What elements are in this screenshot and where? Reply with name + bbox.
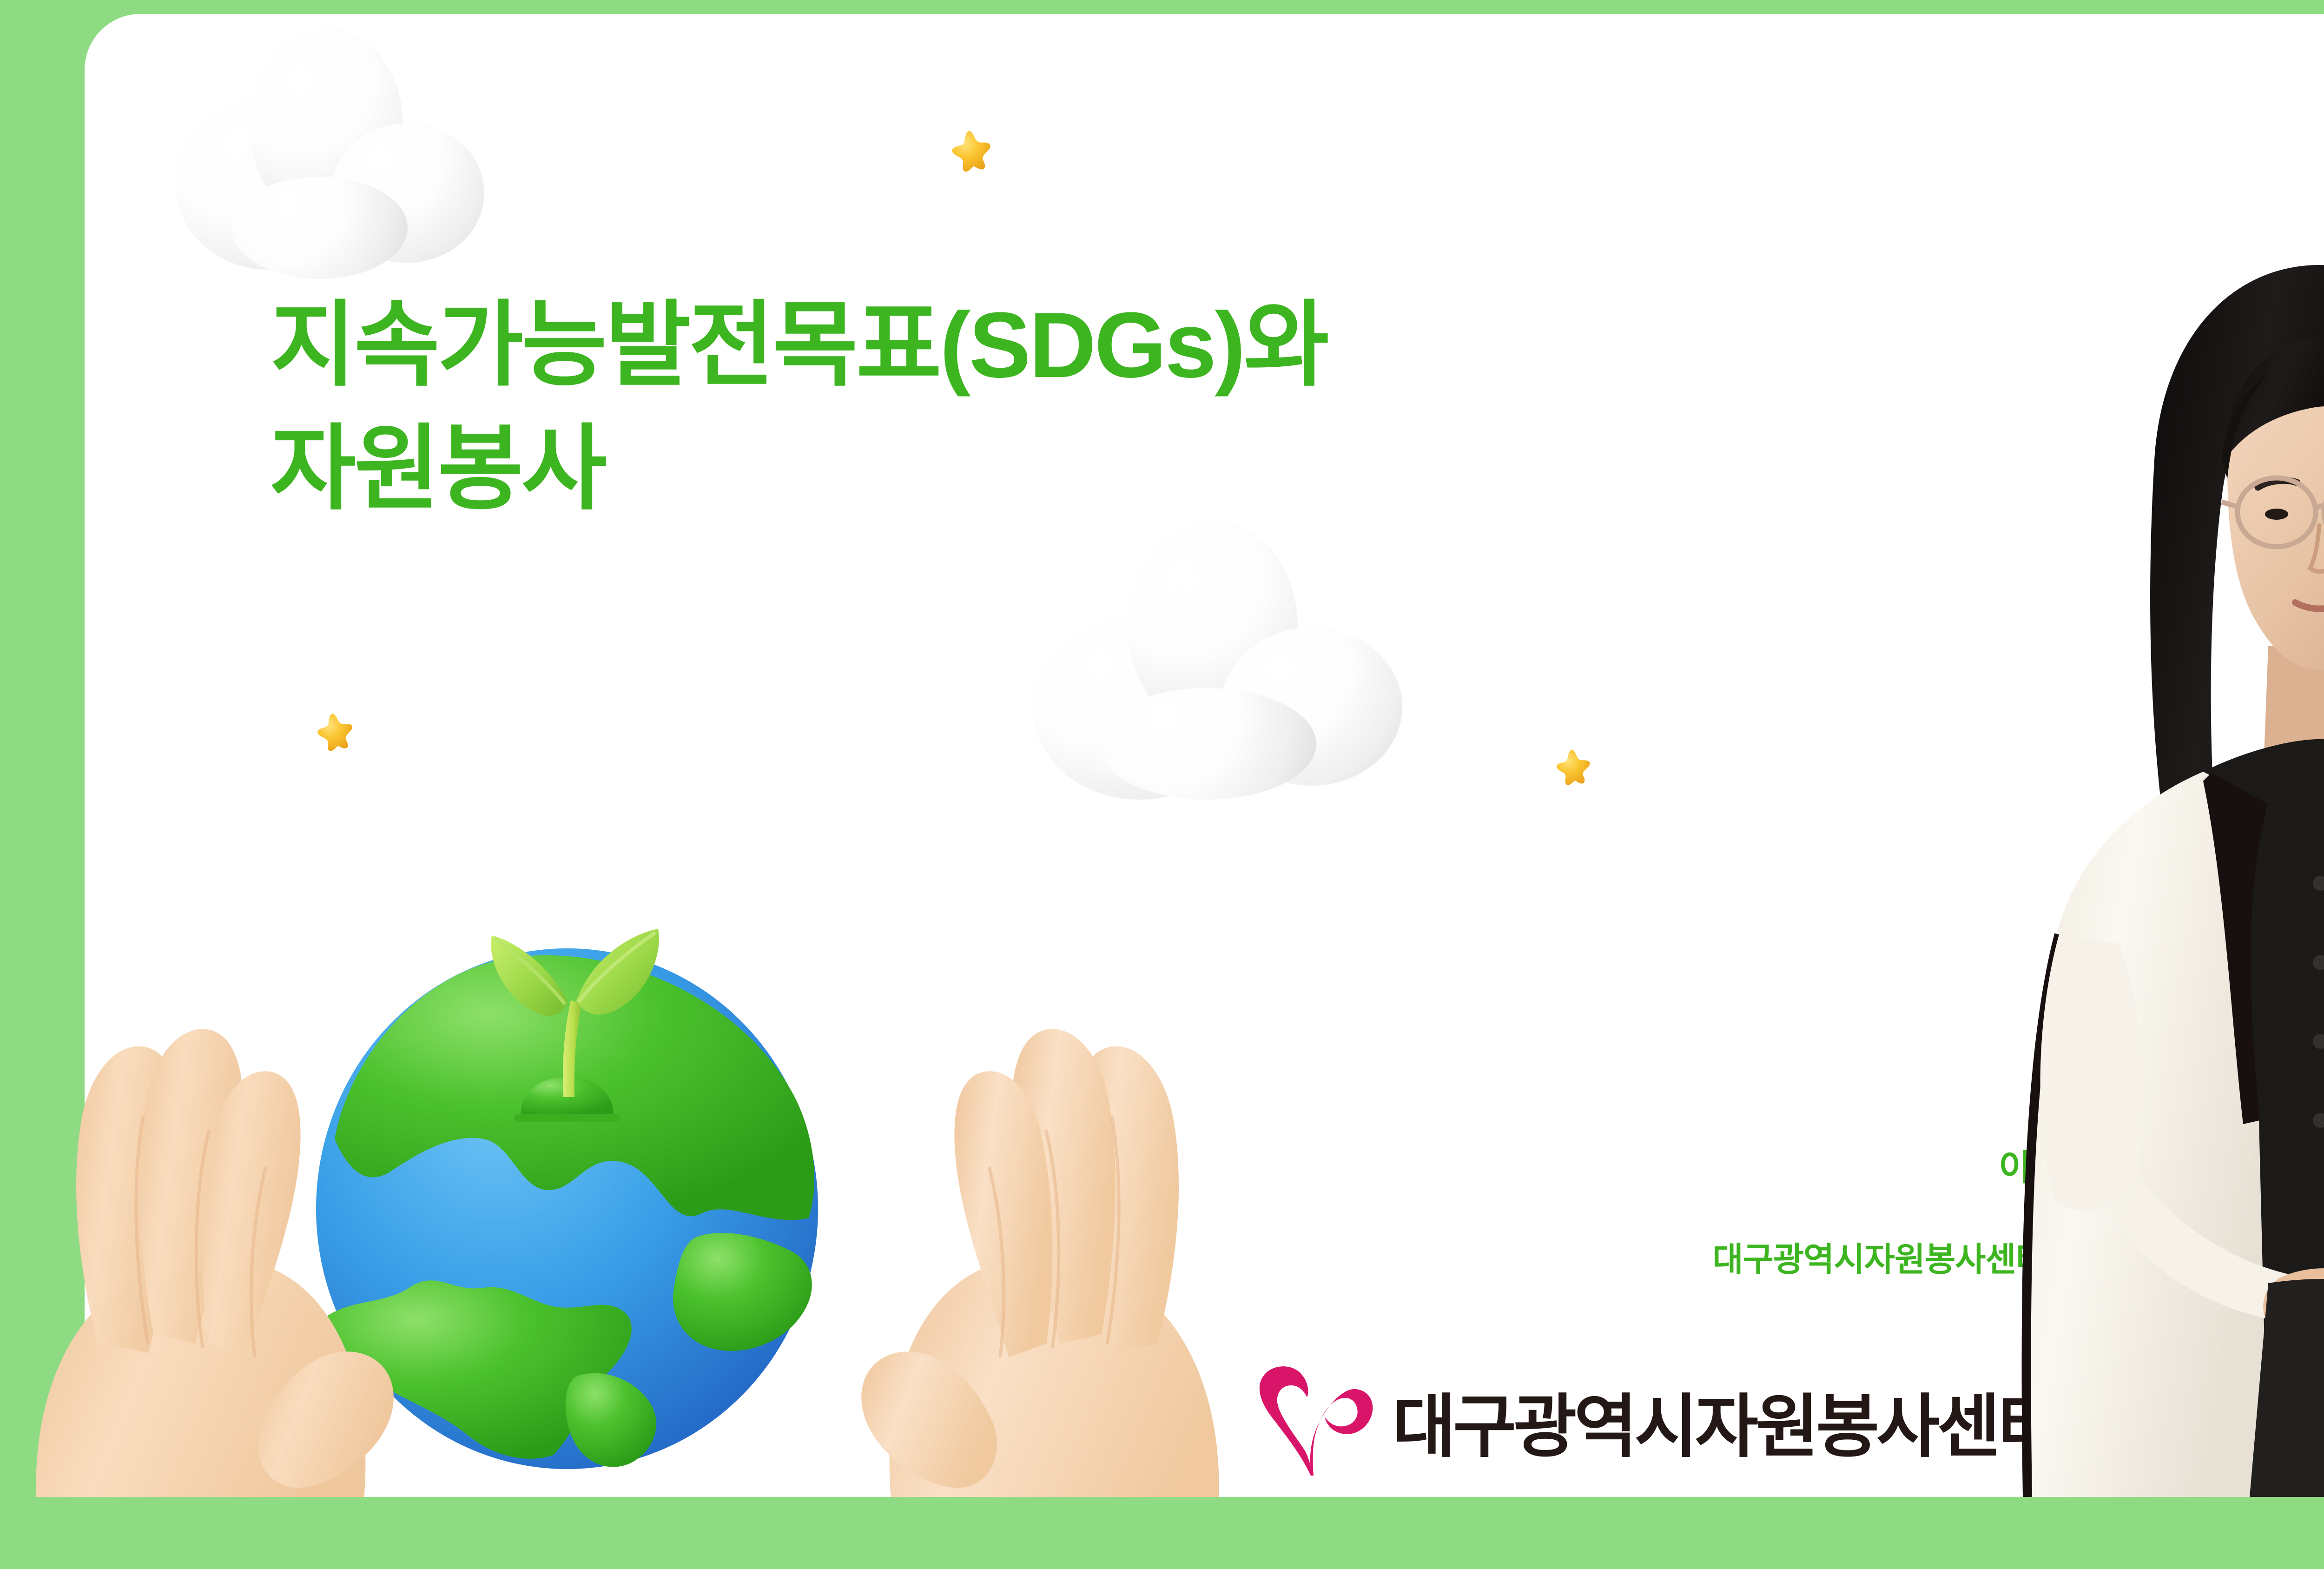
cloud-icon	[150, 28, 494, 260]
star-icon	[312, 708, 357, 753]
star-icon	[1553, 746, 1594, 787]
presenter-photo	[1943, 200, 2324, 1497]
frame-bottom-band	[0, 1497, 2324, 1569]
cupped-hands-icon	[0, 925, 1255, 1569]
star-icon	[947, 126, 996, 174]
cloud-icon	[1010, 516, 1419, 776]
heart-swirl-icon	[1256, 1362, 1377, 1478]
slide-canvas: 지속가능발전목표(SDGs)와 자원봉사 이 은 자 대구광역시자원봉사센터 사…	[0, 0, 2324, 1569]
organisation-logo: 대구광역시자원봉사센터	[1256, 1362, 2058, 1478]
page-title: 지속가능발전목표(SDGs)와 자원봉사	[271, 284, 1990, 531]
